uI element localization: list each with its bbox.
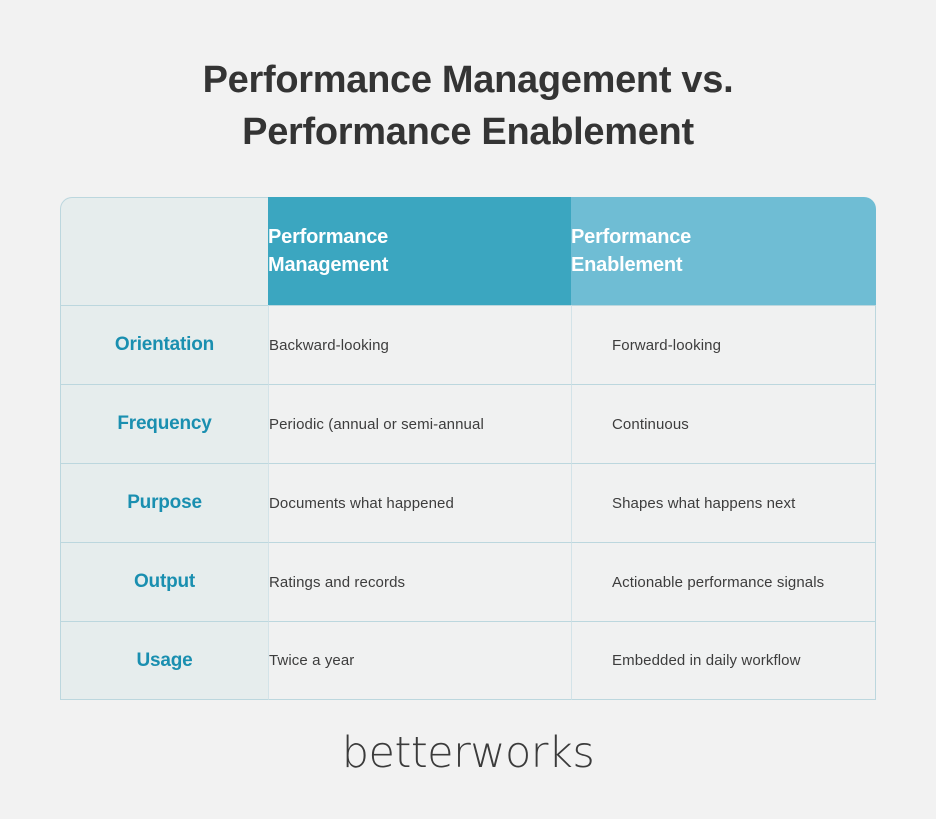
page-title-line-2: Performance Enablement [0, 106, 936, 158]
column-header-pm-line-1: Performance [268, 223, 571, 251]
page-title: Performance Management vs. Performance E… [0, 54, 936, 158]
betterworks-logo: betterworks [0, 727, 936, 779]
page-title-line-1: Performance Management vs. [0, 54, 936, 106]
column-header-pe-line-2: Enablement [571, 251, 876, 279]
cell-purpose-enablement: Shapes what happens next [571, 463, 876, 542]
cell-purpose-management: Documents what happened [268, 463, 571, 542]
row-label-orientation: Orientation [60, 305, 268, 384]
comparison-table: Performance Management Performance Enabl… [60, 197, 876, 700]
infographic-page: Performance Management vs. Performance E… [0, 0, 936, 819]
column-header-performance-enablement: Performance Enablement [571, 197, 876, 305]
cell-orientation-management: Backward-looking [268, 305, 571, 384]
cell-orientation-enablement: Forward-looking [571, 305, 876, 384]
cell-output-enablement: Actionable performance signals [571, 542, 876, 621]
column-header-performance-management: Performance Management [268, 197, 571, 305]
table-header: Performance Management Performance Enabl… [60, 197, 876, 305]
row-label-output: Output [60, 542, 268, 621]
column-header-pe-line-1: Performance [571, 223, 876, 251]
table-corner-cell [60, 197, 268, 305]
cell-usage-management: Twice a year [268, 621, 571, 700]
row-label-purpose: Purpose [60, 463, 268, 542]
table-row: Purpose Documents what happened Shapes w… [60, 463, 876, 542]
cell-frequency-enablement: Continuous [571, 384, 876, 463]
table-body: Orientation Backward-looking Forward-loo… [60, 305, 876, 700]
row-label-frequency: Frequency [60, 384, 268, 463]
cell-usage-enablement: Embedded in daily workflow [571, 621, 876, 700]
table-row: Output Ratings and records Actionable pe… [60, 542, 876, 621]
table-header-row: Performance Management Performance Enabl… [60, 197, 876, 305]
row-label-usage: Usage [60, 621, 268, 700]
column-header-pm-line-2: Management [268, 251, 571, 279]
cell-frequency-management: Periodic (annual or semi-annual [268, 384, 571, 463]
table-row: Usage Twice a year Embedded in daily wor… [60, 621, 876, 700]
table-row: Frequency Periodic (annual or semi-annua… [60, 384, 876, 463]
table-row: Orientation Backward-looking Forward-loo… [60, 305, 876, 384]
cell-output-management: Ratings and records [268, 542, 571, 621]
